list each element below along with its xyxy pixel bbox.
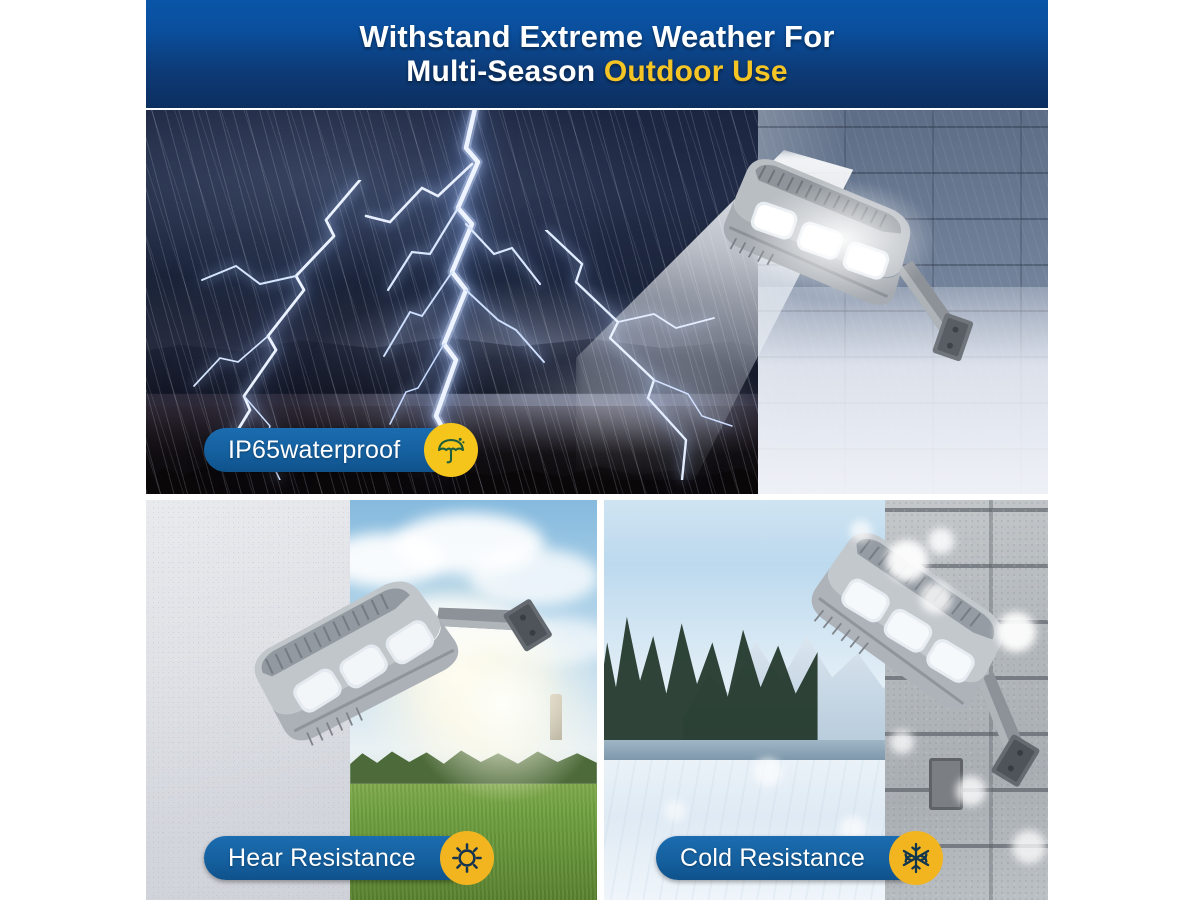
heat-resistance-panel: Hear Resistance [146, 500, 597, 900]
snowflake-icon [889, 831, 943, 885]
sun-flare [404, 604, 597, 804]
snow-bokeh [956, 776, 986, 806]
badge-ip65-label: IP65waterproof [228, 436, 400, 465]
snow-bokeh [664, 800, 686, 822]
badge-ip65-waterproof[interactable]: IP65waterproof [204, 428, 458, 472]
badge-cold-label: Cold Resistance [680, 844, 865, 873]
snow-bokeh [928, 528, 954, 554]
snow-bokeh [996, 612, 1036, 652]
sun-icon [440, 831, 494, 885]
lightning-bolt-right [536, 230, 736, 480]
snowy-pine-forest [604, 588, 818, 748]
wet-brick-wall-scene [758, 110, 1048, 494]
waterproof-panel: IP65waterproof [146, 110, 1048, 494]
snow-bokeh [754, 758, 782, 786]
badge-heat-resistance[interactable]: Hear Resistance [204, 836, 474, 880]
snow-bokeh [850, 520, 872, 542]
snow-bokeh [886, 540, 928, 582]
header-banner: Withstand Extreme Weather For Multi-Seas… [146, 0, 1048, 108]
snow-bokeh [1012, 830, 1046, 864]
cloud [469, 548, 597, 606]
header-line-2-plain: Multi-Season [406, 55, 604, 88]
snow-bokeh [920, 582, 952, 614]
cold-resistance-panel: Cold Resistance [604, 500, 1048, 900]
header-line-2: Multi-Season Outdoor Use [406, 55, 788, 89]
led-glow [746, 180, 936, 300]
snow-bokeh [890, 730, 914, 754]
header-line-1: Withstand Extreme Weather For [359, 20, 834, 55]
badge-cold-resistance[interactable]: Cold Resistance [656, 836, 923, 880]
header-line-2-accent: Outdoor Use [604, 55, 788, 88]
rain-on-wall [758, 110, 1048, 494]
snowy-road-guardrail [604, 740, 885, 760]
product-feature-image: Withstand Extreme Weather For Multi-Seas… [0, 0, 1200, 900]
badge-heat-label: Hear Resistance [228, 844, 416, 873]
umbrella-icon [424, 423, 478, 477]
